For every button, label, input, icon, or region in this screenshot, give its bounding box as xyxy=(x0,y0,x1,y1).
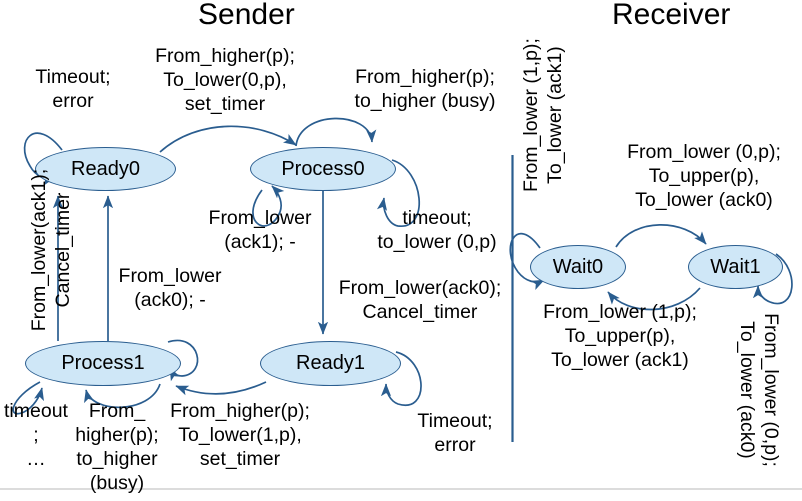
state-diagram-canvas: Sender Receiver Ready0 Process0 Process1… xyxy=(0,0,802,501)
label-process1-to-ready0: From_lower(ack1); Cancel_timer xyxy=(27,150,75,350)
edge-wait0-to-wait1 xyxy=(616,225,706,247)
label-wait1-to-wait0: From_lower (1,p); To_upper(p), To_lower … xyxy=(520,300,720,372)
title-sender: Sender xyxy=(198,0,295,32)
label-ready1-self: Timeout; error xyxy=(395,409,515,457)
state-wait0[interactable]: Wait0 xyxy=(530,245,626,289)
title-receiver: Receiver xyxy=(612,0,730,32)
label-ready0-self: Timeout; error xyxy=(8,65,138,113)
label-process0-to-ready1: From_lower(ack0); Cancel_timer xyxy=(325,276,515,324)
state-ready1[interactable]: Ready1 xyxy=(260,341,401,386)
label-process0-self-top: From_higher(p); to_higher (busy) xyxy=(330,65,520,113)
label-wait0-to-wait1: From_lower (0,p); To_upper(p), To_lower … xyxy=(604,140,802,212)
label-process1-to-ready0-inner: From_lower (ack0); - xyxy=(95,264,245,312)
edge-process0-self-top xyxy=(296,118,372,146)
label-ready1-to-process1: From_higher(p); To_lower(1,p), set_timer xyxy=(150,399,330,471)
label-wait1-self: From_lower (0,p); To_lower (ack0) xyxy=(735,300,783,480)
edge-ready0-to-process0 xyxy=(160,126,296,152)
state-process0[interactable]: Process0 xyxy=(250,147,396,191)
label-process0-self-right: timeout; to_lower (0,p) xyxy=(362,206,512,254)
state-wait1[interactable]: Wait1 xyxy=(688,245,783,289)
label-ready0-to-process0: From_higher(p); To_lower(0,p), set_timer xyxy=(135,44,315,116)
edge-ready1-to-process1 xyxy=(176,382,266,394)
label-process0-self-left: From_lower (ack1); - xyxy=(190,206,330,254)
label-wait0-self: From_lower (1,p); To_lower (ack1) xyxy=(519,25,567,205)
